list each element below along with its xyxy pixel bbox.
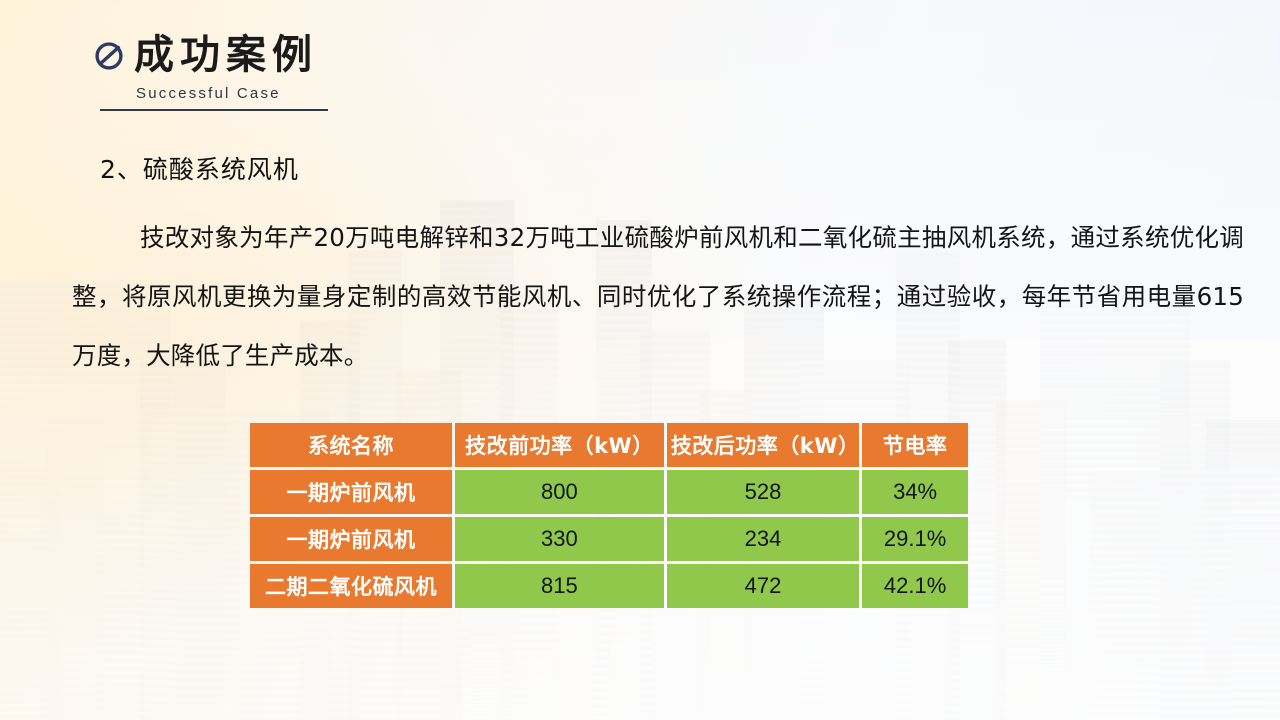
cell-power-after: 528 bbox=[667, 470, 859, 514]
title-divider bbox=[100, 109, 328, 111]
cell-system-name: 一期炉前风机 bbox=[250, 470, 452, 514]
slide-canvas: 成功案例 Successful Case 2、硫酸系统风机 技改对象为年产20万… bbox=[0, 0, 1280, 720]
title-block: 成功案例 Successful Case bbox=[92, 34, 328, 111]
cell-system-name: 一期炉前风机 bbox=[250, 517, 452, 561]
slide-content: 成功案例 Successful Case 2、硫酸系统风机 技改对象为年产20万… bbox=[0, 0, 1280, 720]
results-table: 系统名称 技改前功率（kW） 技改后功率（kW） 节电率 一期炉前风机 800 … bbox=[247, 420, 971, 611]
cell-power-before: 330 bbox=[455, 517, 664, 561]
page-subtitle: Successful Case bbox=[136, 85, 328, 102]
column-header-power-before: 技改前功率（kW） bbox=[455, 423, 664, 467]
cell-power-after: 472 bbox=[667, 564, 859, 608]
table-row: 一期炉前风机 330 234 29.1% bbox=[250, 517, 968, 561]
page-title: 成功案例 bbox=[134, 34, 318, 77]
results-table-wrapper: 系统名称 技改前功率（kW） 技改后功率（kW） 节电率 一期炉前风机 800 … bbox=[247, 420, 971, 611]
column-header-system-name: 系统名称 bbox=[250, 423, 452, 467]
table-row: 二期二氧化硫风机 815 472 42.1% bbox=[250, 564, 968, 608]
cell-power-before: 800 bbox=[455, 470, 664, 514]
cell-saving-rate: 42.1% bbox=[862, 564, 968, 608]
cell-power-after: 234 bbox=[667, 517, 859, 561]
table-row: 一期炉前风机 800 528 34% bbox=[250, 470, 968, 514]
circle-slash-icon bbox=[92, 39, 126, 73]
cell-power-before: 815 bbox=[455, 564, 664, 608]
cell-saving-rate: 29.1% bbox=[862, 517, 968, 561]
table-header-row: 系统名称 技改前功率（kW） 技改后功率（kW） 节电率 bbox=[250, 423, 968, 467]
title-row: 成功案例 bbox=[92, 34, 328, 77]
cell-saving-rate: 34% bbox=[862, 470, 968, 514]
column-header-power-after: 技改后功率（kW） bbox=[667, 423, 859, 467]
body-paragraph: 技改对象为年产20万吨电解锌和32万吨工业硫酸炉前风机和二氧化硫主抽风机系统，通… bbox=[72, 208, 1244, 385]
section-heading: 2、硫酸系统风机 bbox=[100, 150, 299, 186]
column-header-saving-rate: 节电率 bbox=[862, 423, 968, 467]
cell-system-name: 二期二氧化硫风机 bbox=[250, 564, 452, 608]
